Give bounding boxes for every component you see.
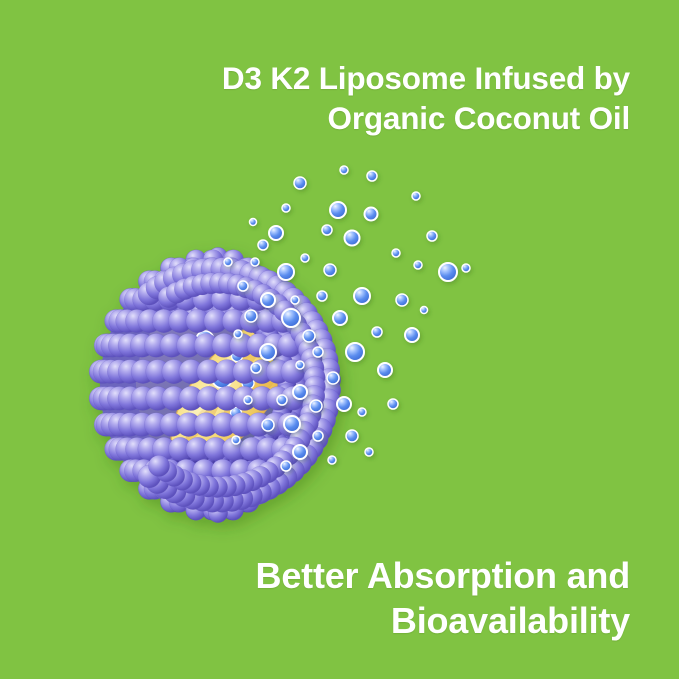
molecule-plume [224,166,470,471]
headline-top: D3 K2 Liposome Infused by Organic Coconu… [110,58,630,139]
headline-bottom-line-2: Bioavailability [110,598,630,643]
headline-top-line-1: D3 K2 Liposome Infused by [110,58,630,98]
cargo-core [149,301,315,483]
membrane-beads [89,248,341,523]
headline-bottom: Better Absorption and Bioavailability [110,553,630,644]
headline-top-line-2: Organic Coconut Oil [110,98,630,138]
membrane-interior [100,257,336,513]
headline-bottom-line-1: Better Absorption and [110,553,630,598]
core-molecules [189,331,275,433]
poster-canvas: D3 K2 Liposome Infused by Organic Coconu… [0,0,679,679]
lipid-tails [169,268,328,502]
liposome-body [89,248,341,523]
